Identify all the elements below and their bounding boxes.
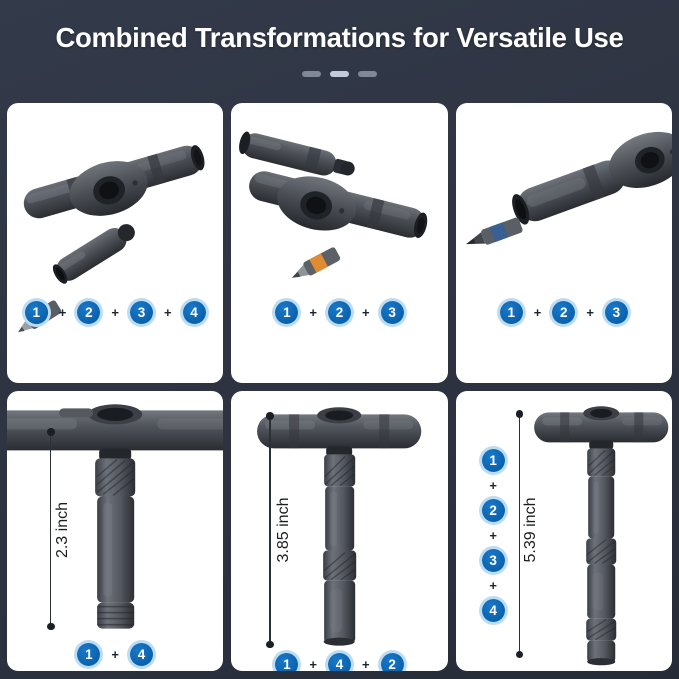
plus-separator: + [489,529,497,542]
dimension-label-6: 5.39 inch [522,487,540,573]
badge-4: 4 [183,301,206,324]
plus-separator: + [489,479,497,492]
badge-1: 1 [25,301,48,324]
panel-5: 3.85 inch 1 + 4 + 2 [231,391,447,671]
page-title: Combined Transformations for Versatile U… [55,22,623,54]
plus-separator: + [489,579,497,592]
tool-illustration-4 [7,391,223,671]
badge-3: 3 [381,301,404,324]
tool-illustration-2 [231,103,447,383]
plus-separator: + [111,306,119,319]
dimension-cap-bottom-icon [47,623,55,631]
badge-3: 3 [130,301,153,324]
badge-1: 1 [275,301,298,324]
combo-column-6: 1 + 2 + 3 + 4 [482,449,505,622]
dimension-label-4: 2.3 inch [54,492,72,568]
dash-center-icon [330,71,349,77]
panel-2: 1 + 2 + 3 [231,103,447,383]
panel-1: 1 + 2 + 3 + 4 [7,103,223,383]
tool-illustration-1 [7,103,223,383]
plus-separator: + [309,306,317,319]
badge-1: 1 [500,301,523,324]
combo-row-5: 1 + 4 + 2 [231,653,447,671]
panel-grid: 1 + 2 + 3 + 4 [7,103,672,671]
header-dash-group [302,71,377,77]
dimension-cap-bottom-icon [266,641,274,649]
dimension-cap-top-icon [47,428,55,436]
combo-row-1: 1 + 2 + 3 + 4 [7,301,223,324]
badge-2: 2 [328,301,351,324]
badge-4: 4 [328,653,351,671]
dimension-label-5: 3.85 inch [275,487,293,573]
badge-2: 2 [77,301,100,324]
badge-4: 4 [482,599,505,622]
dash-right-icon [358,71,377,77]
dimension-line-shaft [50,431,51,627]
plus-separator: + [164,306,172,319]
badge-1: 1 [275,653,298,671]
badge-3: 3 [605,301,628,324]
panel-3: 1 + 2 + 3 [456,103,672,383]
combo-row-2: 1 + 2 + 3 [231,301,447,324]
dimension-cap-top-icon [266,412,274,420]
badge-4: 4 [130,643,153,666]
dimension-cap-top-icon [516,410,524,418]
page-header: Combined Transformations for Versatile U… [0,0,679,95]
plus-separator: + [111,648,119,661]
combo-row-3: 1 + 2 + 3 [456,301,672,324]
tool-illustration-5 [231,391,447,671]
tool-illustration-3 [456,103,672,383]
badge-3: 3 [482,549,505,572]
plus-separator: + [362,658,370,671]
plus-separator: + [309,658,317,671]
dimension-line-5 [266,415,274,645]
badge-2: 2 [552,301,575,324]
badge-1: 1 [482,449,505,472]
plus-separator: + [534,306,542,319]
badge-2: 2 [381,653,404,671]
badge-1: 1 [77,643,100,666]
panel-4: 2.3 inch 1 + 4 [7,391,223,671]
plus-separator: + [586,306,594,319]
combo-row-4: 1 + 4 [7,643,223,666]
plus-separator: + [362,306,370,319]
dimension-line-shaft [519,413,520,655]
dimension-line-shaft [269,415,270,645]
panel-6: 5.39 inch 1 + 2 + 3 + 4 [456,391,672,671]
dimension-cap-bottom-icon [516,651,524,659]
badge-2: 2 [482,499,505,522]
plus-separator: + [59,306,67,319]
dash-left-icon [302,71,321,77]
